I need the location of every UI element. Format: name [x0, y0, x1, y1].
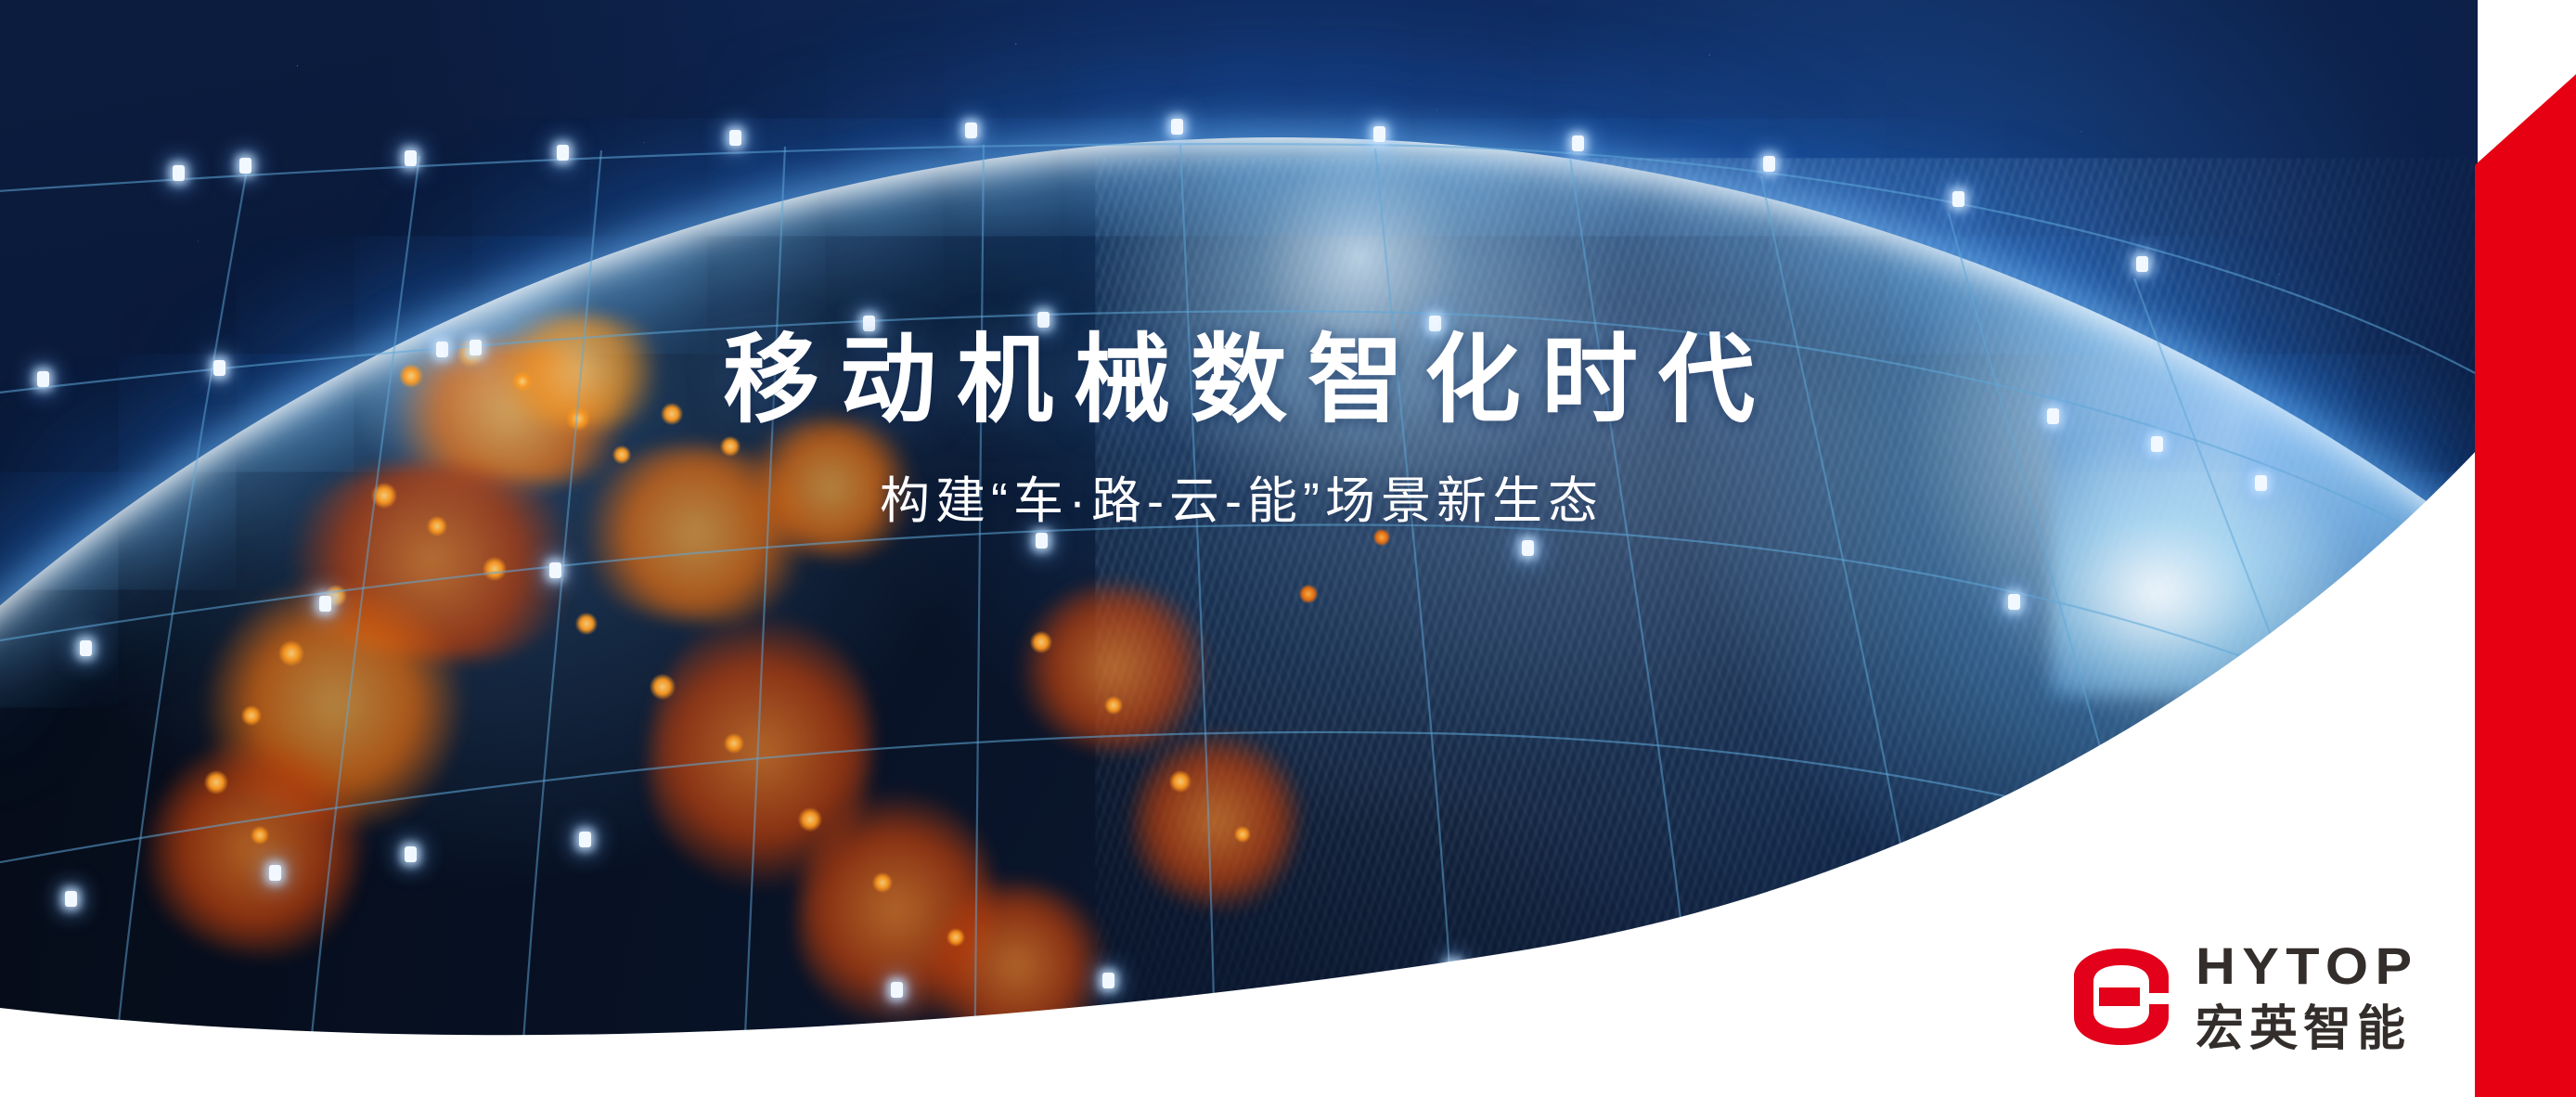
space-background [0, 0, 2478, 1097]
title-slide: 移动机械数智化时代 构建“车·路-云-能”场景新生态 HYTOP 宏英智能 [0, 0, 2576, 1097]
logo-chinese-name: 宏英智能 [2196, 1005, 2411, 1053]
logo-english-name: HYTOP [2196, 940, 2424, 992]
hytop-g-mark-icon [2071, 945, 2171, 1049]
red-accent-bar [2475, 0, 2576, 1097]
logo-wordmark: HYTOP 宏英智能 [2196, 940, 2411, 1053]
hytop-logo[interactable]: HYTOP 宏英智能 [2071, 940, 2411, 1053]
